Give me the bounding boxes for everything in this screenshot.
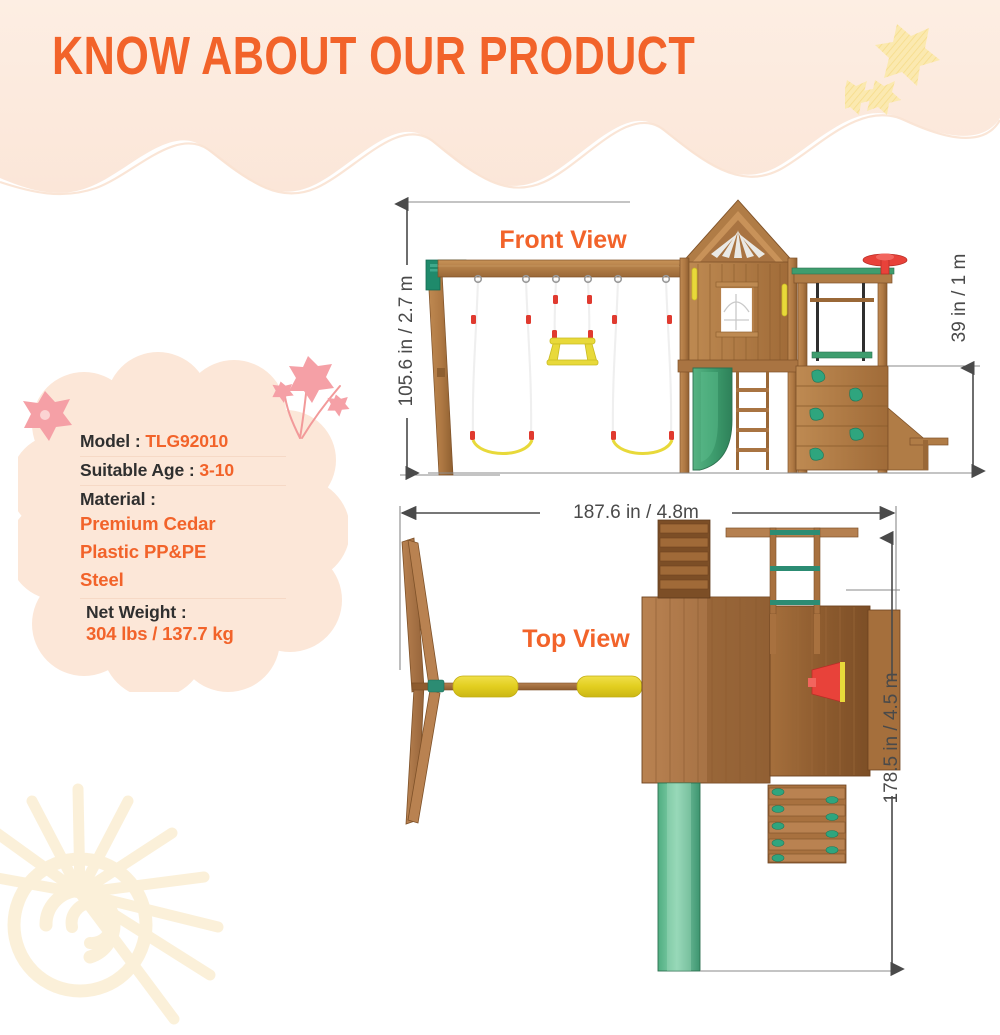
material-value-1: Premium Cedar (80, 510, 306, 538)
spec-row-material: Material : Premium Cedar Plastic PP&PE S… (80, 486, 306, 598)
material-label: Material : (80, 489, 306, 510)
flower-icon (18, 388, 74, 446)
front-view-label: Front View (499, 226, 627, 254)
spec-list: Model : TLG92010 Suitable Age : 3-10 Mat… (80, 428, 306, 649)
material-value-3: Steel (80, 566, 306, 594)
deck-height-label: 39 in / 1 m (949, 254, 970, 343)
top-view-label: Top View (522, 625, 630, 653)
page-title: KNOW ABOUT OUR PRODUCT (52, 28, 695, 85)
stair-treads (658, 520, 710, 598)
scribble-star-icon (845, 2, 1000, 152)
swing-ropes (473, 280, 671, 436)
front-view-diagram: 105.6 in / 2.7 m Front View (380, 190, 1000, 490)
trapeze-bar (547, 338, 598, 365)
age-label: Suitable Age : (80, 460, 195, 480)
model-value: TLG92010 (145, 431, 228, 451)
top-depth-label: 178.5 in / 4.5 m (881, 673, 902, 804)
spec-row-model: Model : TLG92010 (80, 428, 306, 456)
spec-row-age: Suitable Age : 3-10 (80, 457, 306, 485)
climbing-wall (768, 785, 846, 863)
swing-seat (473, 440, 672, 454)
rope-connectors (470, 295, 674, 440)
sun-doodle-icon (0, 775, 250, 1035)
model-label: Model : (80, 431, 141, 451)
material-value-2: Plastic PP&PE (80, 538, 306, 566)
top-depth-dimension: 178.5 in / 4.5 m (881, 538, 902, 969)
weight-label: Net Weight : (86, 602, 306, 623)
weight-value: 304 lbs / 137.7 kg (86, 623, 306, 645)
spec-row-weight: Net Weight : 304 lbs / 137.7 kg (80, 599, 306, 649)
top-view-diagram: 187.6 in / 4.8m Top View (380, 490, 1000, 1000)
spec-panel: Model : TLG92010 Suitable Age : 3-10 Mat… (18, 352, 348, 692)
age-value: 3-10 (199, 460, 234, 480)
slide (658, 783, 700, 971)
infographic-canvas: KNOW ABOUT OUR PRODUCT (0, 0, 1000, 1000)
ladder (736, 372, 769, 470)
front-height-label: 105.6 in / 2.7 m (396, 276, 417, 407)
